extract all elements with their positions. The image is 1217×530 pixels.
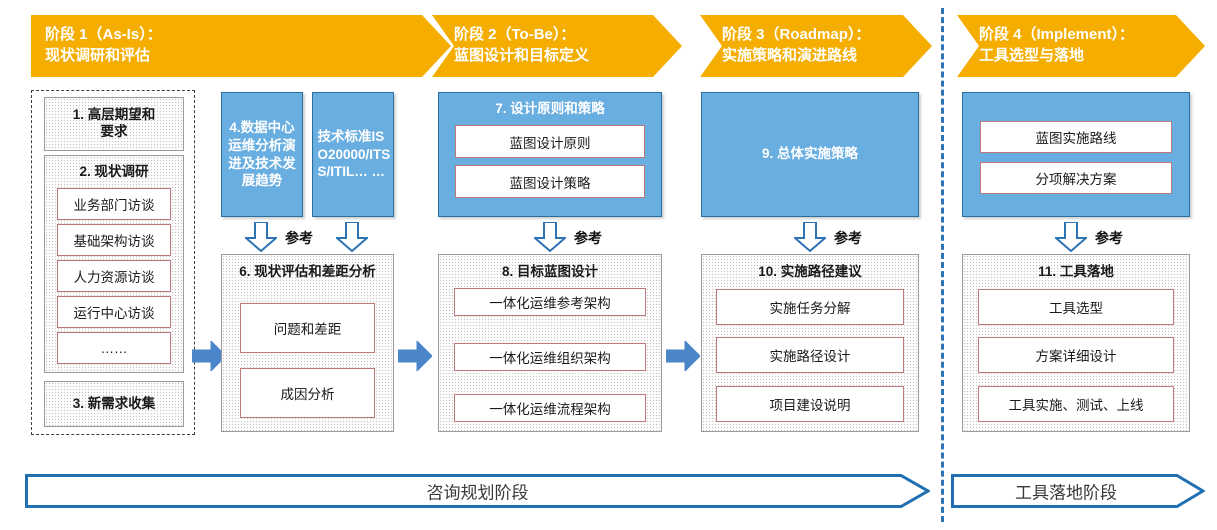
- phase-banner-4-line2: 工具选型与落地: [979, 46, 1205, 67]
- diagram-canvas: 阶段 1（As-Is）： 现状调研和评估 阶段 2（To-Be）： 蓝图设计和目…: [0, 0, 1217, 530]
- box-10-title: 10. 实施路径建议: [702, 264, 918, 281]
- card-interview-more[interactable]: ……: [57, 332, 171, 364]
- box-9-title: 9. 总体实施策略: [702, 146, 918, 163]
- card-interview-business[interactable]: 业务部门访谈: [57, 188, 171, 220]
- card-detailed-solution-design[interactable]: 方案详细设计: [978, 337, 1174, 373]
- box-8-title: 8. 目标蓝图设计: [439, 264, 661, 281]
- box-3-title: 3. 新需求收集: [45, 396, 183, 413]
- reference-down-arrow-col2-right: [336, 222, 368, 252]
- box-4-datacenter-trends[interactable]: 4.数据中心运维分析演进及技术发展趋势: [221, 92, 303, 217]
- card-tool-selection[interactable]: 工具选型: [978, 289, 1174, 325]
- phase-banner-3-line2: 实施策略和演进路线: [722, 46, 932, 67]
- bottom-banner-tooling[interactable]: 工具落地阶段: [951, 474, 1205, 508]
- tech-standards-title: 技术标准ISO20000/ITSS/ITIL… …: [315, 128, 392, 181]
- card-interview-operations[interactable]: 运行中心访谈: [57, 296, 171, 328]
- box-tech-standards[interactable]: 技术标准ISO20000/ITSS/ITIL… …: [312, 92, 394, 217]
- box-1-title: 1. 高层期望和要求: [45, 107, 183, 141]
- card-integrated-ops-process-arch[interactable]: 一体化运维流程架构: [454, 394, 646, 422]
- box-2-title: 2. 现状调研: [45, 164, 183, 181]
- box-7-title: 7. 设计原则和策略: [439, 101, 661, 118]
- reference-down-arrow-col4: [794, 222, 826, 252]
- flow-arrow-3: [666, 341, 700, 371]
- card-itemized-solutions[interactable]: 分项解决方案: [980, 162, 1172, 194]
- card-tool-impl-test-golive[interactable]: 工具实施、测试、上线: [978, 386, 1174, 422]
- bottom-banner-consulting[interactable]: 咨询规划阶段: [25, 474, 930, 508]
- phase-banner-4[interactable]: 阶段 4（Implement）： 工具选型与落地: [957, 15, 1205, 77]
- reference-label-col5: 参考: [1095, 228, 1123, 248]
- card-project-description[interactable]: 项目建设说明: [716, 386, 904, 422]
- phase-banner-4-line1: 阶段 4（Implement）：: [979, 25, 1205, 46]
- card-issues-and-gaps[interactable]: 问题和差距: [240, 303, 375, 353]
- box-11-title: 11. 工具落地: [963, 264, 1189, 281]
- card-blueprint-roadmap[interactable]: 蓝图实施路线: [980, 121, 1172, 153]
- card-blueprint-design-principle[interactable]: 蓝图设计原则: [455, 125, 645, 158]
- reference-down-arrow-col3: [534, 222, 566, 252]
- reference-label-col3: 参考: [574, 228, 602, 248]
- reference-label-col2: 参考: [285, 228, 313, 248]
- card-task-breakdown[interactable]: 实施任务分解: [716, 289, 904, 325]
- phase-banner-3-line1: 阶段 3（Roadmap）：: [722, 25, 932, 46]
- card-integrated-ops-org-arch[interactable]: 一体化运维组织架构: [454, 343, 646, 371]
- phase-divider: [941, 8, 944, 522]
- box-blueprint-implementation[interactable]: [962, 92, 1190, 217]
- box-1-high-level-expectations[interactable]: 1. 高层期望和要求: [44, 97, 184, 151]
- phase-banner-2[interactable]: 阶段 2（To-Be）： 蓝图设计和目标定义: [432, 15, 682, 77]
- box-6-title: 6. 现状评估和差距分析: [222, 264, 393, 281]
- card-interview-hr[interactable]: 人力资源访谈: [57, 260, 171, 292]
- card-interview-infrastructure[interactable]: 基础架构访谈: [57, 224, 171, 256]
- reference-label-col4: 参考: [834, 228, 862, 248]
- box-3-new-requirements[interactable]: 3. 新需求收集: [44, 381, 184, 427]
- phase-banner-1-line1: 阶段 1（As-Is）：: [45, 25, 451, 46]
- flow-arrow-2: [398, 341, 432, 371]
- box-4-title: 4.数据中心运维分析演进及技术发展趋势: [225, 119, 299, 189]
- card-path-design[interactable]: 实施路径设计: [716, 337, 904, 373]
- phase-banner-2-line2: 蓝图设计和目标定义: [454, 46, 682, 67]
- phase-banner-2-line1: 阶段 2（To-Be）：: [454, 25, 682, 46]
- reference-down-arrow-col2-left: [245, 222, 277, 252]
- bottom-banner-consulting-label: 咨询规划阶段: [25, 479, 930, 504]
- box-9-overall-strategy[interactable]: 9. 总体实施策略: [701, 92, 919, 217]
- bottom-banner-tooling-label: 工具落地阶段: [951, 479, 1181, 504]
- reference-down-arrow-col5: [1055, 222, 1087, 252]
- card-root-cause-analysis[interactable]: 成因分析: [240, 368, 375, 418]
- card-blueprint-design-strategy[interactable]: 蓝图设计策略: [455, 165, 645, 198]
- card-integrated-ops-reference-arch[interactable]: 一体化运维参考架构: [454, 288, 646, 316]
- phase-banner-1[interactable]: 阶段 1（As-Is）： 现状调研和评估: [31, 15, 451, 77]
- phase-banner-3[interactable]: 阶段 3（Roadmap）： 实施策略和演进路线: [700, 15, 932, 77]
- phase-banner-1-line2: 现状调研和评估: [45, 46, 451, 67]
